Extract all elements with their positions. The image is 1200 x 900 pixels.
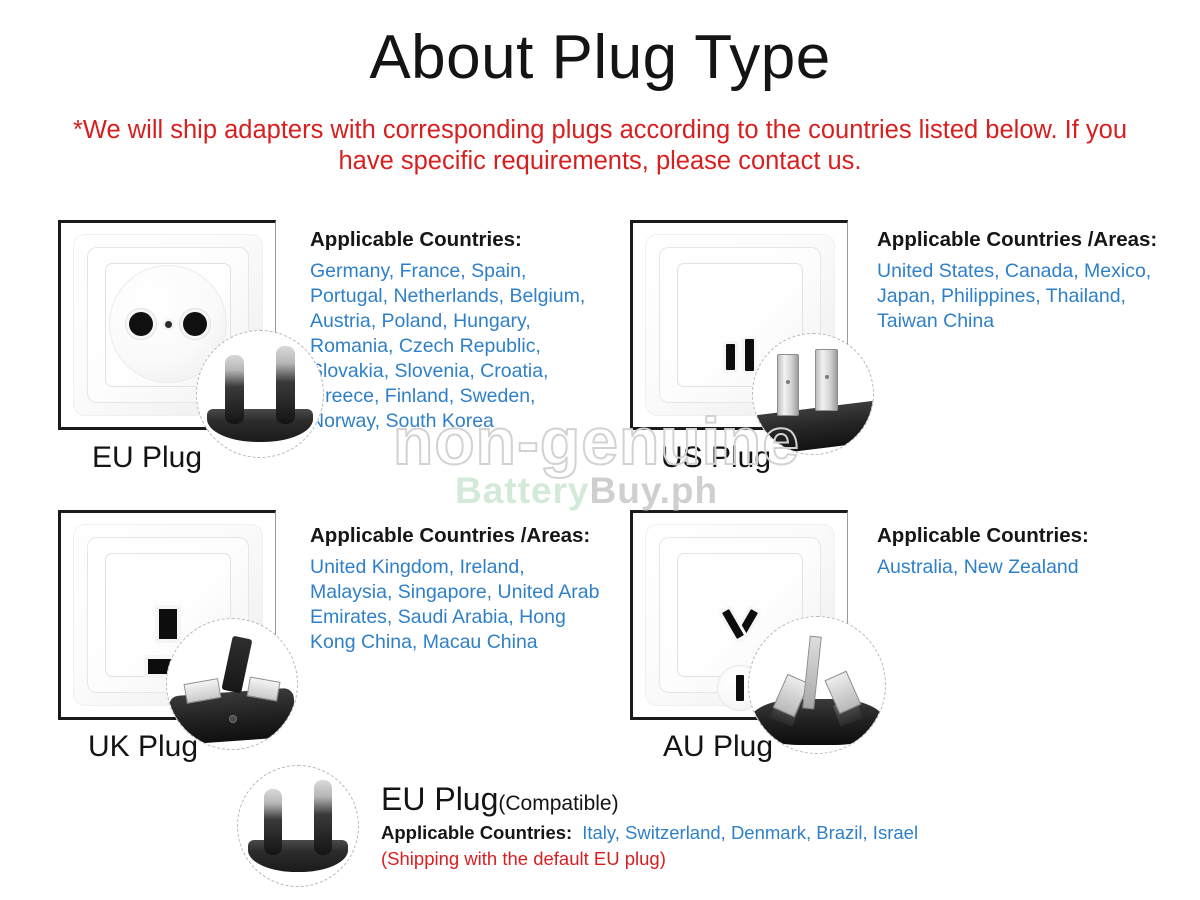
us-plug-body	[752, 400, 874, 455]
plug-inset-eu	[196, 330, 324, 458]
compatible-title-suffix: (Compatible)	[498, 792, 618, 815]
country-block-uk: Applicable Countries /Areas: United King…	[310, 524, 610, 655]
country-heading-uk: Applicable Countries /Areas:	[310, 524, 610, 548]
country-heading-au: Applicable Countries:	[877, 524, 1177, 548]
eu-socket-hole-left	[129, 312, 153, 336]
country-list-eu: Germany, France, Spain, Portugal, Nether…	[310, 259, 590, 434]
eu-plug-prong-left	[264, 789, 282, 855]
country-heading-us: Applicable Countries /Areas:	[877, 228, 1177, 252]
country-block-us: Applicable Countries /Areas: United Stat…	[877, 228, 1177, 334]
eu-plug-body	[248, 840, 349, 871]
country-block-au: Applicable Countries: Australia, New Zea…	[877, 524, 1177, 580]
plug-inset-us	[752, 333, 874, 455]
plug-inset-au	[748, 616, 886, 754]
compatible-title: EU Plug(Compatible)	[381, 781, 619, 818]
eu-plug-prong-right	[276, 346, 295, 424]
us-plug-blade-hole	[825, 375, 829, 379]
shipping-note: *We will ship adapters with correspondin…	[60, 115, 1140, 177]
country-list-us: United States, Canada, Mexico, Japan, Ph…	[877, 259, 1177, 334]
compatible-countries-row: Applicable Countries:Italy, Switzerland,…	[381, 822, 918, 844]
plug-inset-eu-compatible	[237, 765, 359, 887]
au-plug-body	[749, 699, 885, 745]
watermark-brand-green: Battery	[455, 470, 590, 511]
eu-plug-body	[207, 409, 313, 442]
au-socket-earth-slot	[736, 675, 744, 701]
page-title: About Plug Type	[0, 22, 1200, 93]
watermark-brand-gray: Buy.ph	[590, 470, 719, 511]
compatible-title-main: EU Plug	[381, 781, 498, 817]
compatible-shipping-note: (Shipping with the default EU plug)	[381, 848, 666, 870]
us-plug-blade-left	[777, 354, 799, 416]
au-socket-slot-right	[722, 609, 744, 639]
uk-plug-earth-pin	[221, 636, 251, 693]
us-socket-slot-right	[726, 344, 735, 370]
us-plug-blade-hole	[786, 380, 790, 384]
plug-label-eu: EU Plug	[92, 441, 202, 475]
plug-type-infographic: About Plug Type *We will ship adapters w…	[0, 0, 1200, 900]
country-heading-eu: Applicable Countries:	[310, 228, 590, 252]
eu-socket-earth-pin	[165, 321, 172, 328]
watermark-brand: BatteryBuy.ph	[455, 470, 718, 512]
plug-inset-uk	[166, 618, 298, 750]
eu-plug-prong-right	[314, 780, 332, 854]
eu-plug-prong-left	[225, 355, 244, 424]
us-plug-blade-right	[815, 349, 837, 411]
country-list-au: Australia, New Zealand	[877, 555, 1177, 580]
country-block-eu: Applicable Countries: Germany, France, S…	[310, 228, 590, 434]
compatible-heading: Applicable Countries:	[381, 822, 572, 843]
country-list-uk: United Kingdom, Ireland, Malaysia, Singa…	[310, 555, 610, 655]
compatible-country-list: Italy, Switzerland, Denmark, Brazil, Isr…	[582, 822, 918, 843]
